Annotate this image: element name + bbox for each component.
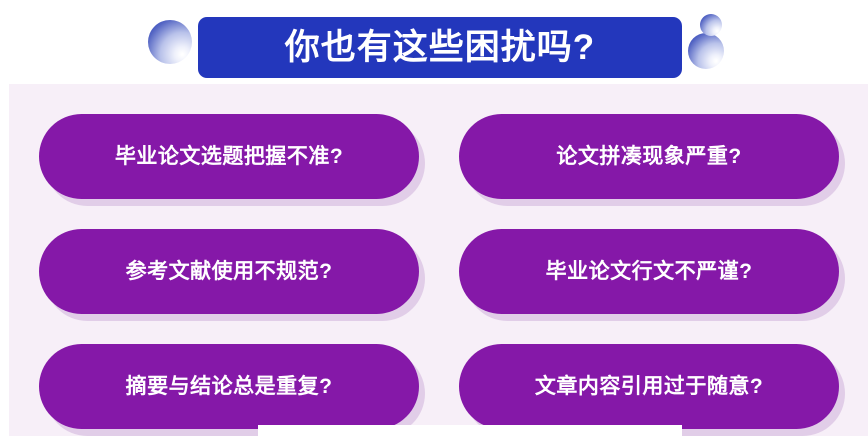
- question-pill-label: 摘要与结论总是重复?: [126, 376, 333, 397]
- question-pill[interactable]: 论文拼凑现象严重?: [459, 114, 839, 199]
- question-pill-label: 毕业论文选题把握不准?: [115, 146, 343, 167]
- title-banner: 你也有这些困扰吗?: [198, 17, 682, 78]
- question-pill[interactable]: 摘要与结论总是重复?: [39, 344, 419, 429]
- question-pill-label: 毕业论文行文不严谨?: [546, 261, 753, 282]
- gradient-sphere-icon: [148, 20, 192, 64]
- page-title: 你也有这些困扰吗?: [285, 30, 595, 65]
- question-pill-grid: 毕业论文选题把握不准? 论文拼凑现象严重? 参考文献使用不规范? 毕业论文行文不…: [39, 114, 839, 429]
- gradient-sphere-icon: [688, 33, 724, 69]
- question-pill-label: 参考文献使用不规范?: [126, 261, 333, 282]
- slide-canvas: 你也有这些困扰吗? 毕业论文选题把握不准? 论文拼凑现象严重? 参考文献使用不规…: [0, 0, 868, 436]
- question-pill-label: 论文拼凑现象严重?: [556, 146, 741, 167]
- question-pill[interactable]: 毕业论文行文不严谨?: [459, 229, 839, 314]
- question-pill[interactable]: 文章内容引用过于随意?: [459, 344, 839, 429]
- gradient-sphere-icon: [700, 14, 722, 36]
- bottom-white-notch: [258, 425, 682, 436]
- question-pill-label: 文章内容引用过于随意?: [535, 376, 763, 397]
- question-pill[interactable]: 毕业论文选题把握不准?: [39, 114, 419, 199]
- question-pill[interactable]: 参考文献使用不规范?: [39, 229, 419, 314]
